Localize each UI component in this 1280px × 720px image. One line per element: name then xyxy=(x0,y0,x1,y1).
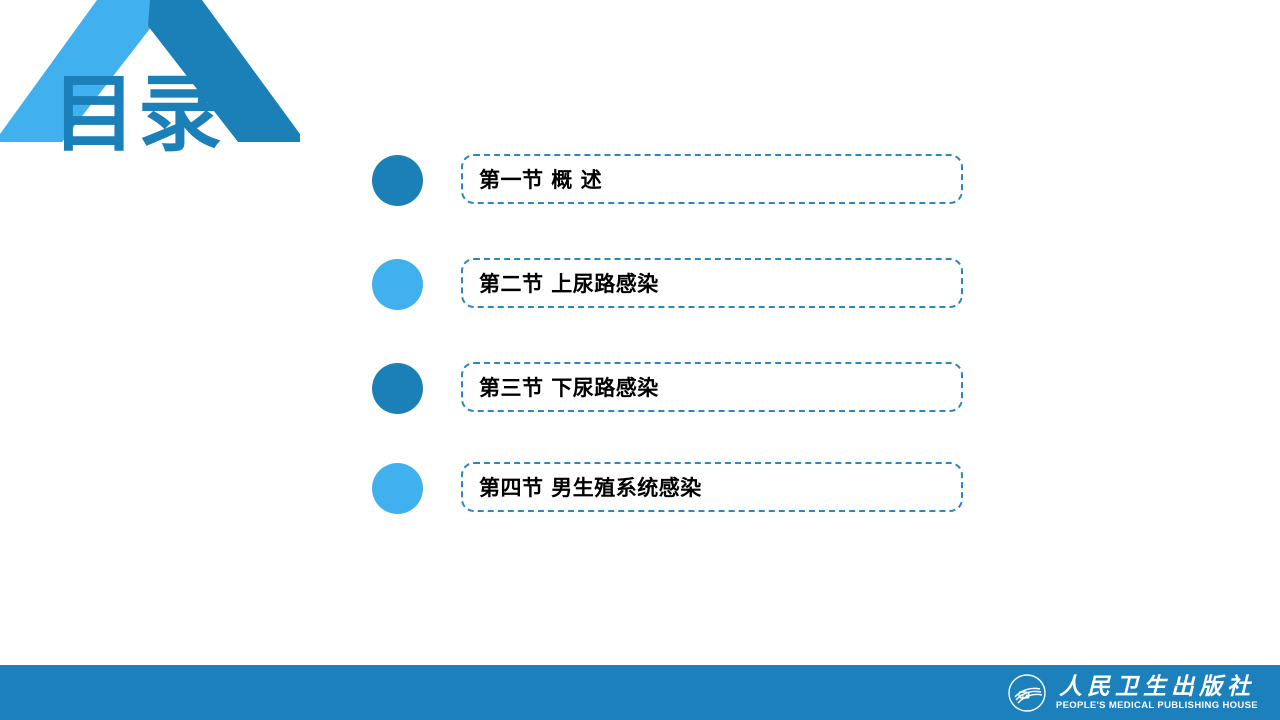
agenda-item-box[interactable]: 第一节 概 述 xyxy=(461,154,963,204)
bullet-circle-icon xyxy=(372,363,423,414)
agenda-list: 第一节 概 述 第二节 上尿路感染 第三节 下尿路感染 第四节 男生殖系统感染 xyxy=(361,150,971,520)
pmph-circle-emblem-icon xyxy=(1007,673,1047,713)
agenda-item-label: 第二节 上尿路感染 xyxy=(479,268,659,298)
agenda-item[interactable]: 第二节 上尿路感染 xyxy=(361,254,971,316)
bullet-circle-icon xyxy=(372,259,423,310)
publisher-name-cn: 人民卫生出版社 xyxy=(1059,675,1255,698)
footer-bar: 人民卫生出版社 PEOPLE'S MEDICAL PUBLISHING HOUS… xyxy=(0,665,1280,720)
agenda-item-box[interactable]: 第三节 下尿路感染 xyxy=(461,362,963,412)
agenda-item[interactable]: 第四节 男生殖系统感染 xyxy=(361,458,971,520)
agenda-item-label: 第三节 下尿路感染 xyxy=(479,372,659,402)
agenda-item-label: 第一节 概 述 xyxy=(479,164,602,194)
agenda-item-box[interactable]: 第二节 上尿路感染 xyxy=(461,258,963,308)
publisher-name-block: 人民卫生出版社 PEOPLE'S MEDICAL PUBLISHING HOUS… xyxy=(1056,675,1258,711)
slide-canvas: 目录 第一节 概 述 第二节 上尿路感染 第三节 下尿路感染 第四节 男生殖系统 xyxy=(0,0,1280,720)
page-title: 目录 xyxy=(52,72,224,156)
bullet-circle-icon xyxy=(372,463,423,514)
publisher-logo: 人民卫生出版社 PEOPLE'S MEDICAL PUBLISHING HOUS… xyxy=(1007,671,1258,714)
agenda-item-label: 第四节 男生殖系统感染 xyxy=(479,472,702,502)
bullet-circle-icon xyxy=(372,155,423,206)
publisher-name-en: PEOPLE'S MEDICAL PUBLISHING HOUSE xyxy=(1056,701,1258,711)
agenda-item-box[interactable]: 第四节 男生殖系统感染 xyxy=(461,462,963,512)
agenda-item[interactable]: 第一节 概 述 xyxy=(361,150,971,212)
agenda-item[interactable]: 第三节 下尿路感染 xyxy=(361,358,971,420)
